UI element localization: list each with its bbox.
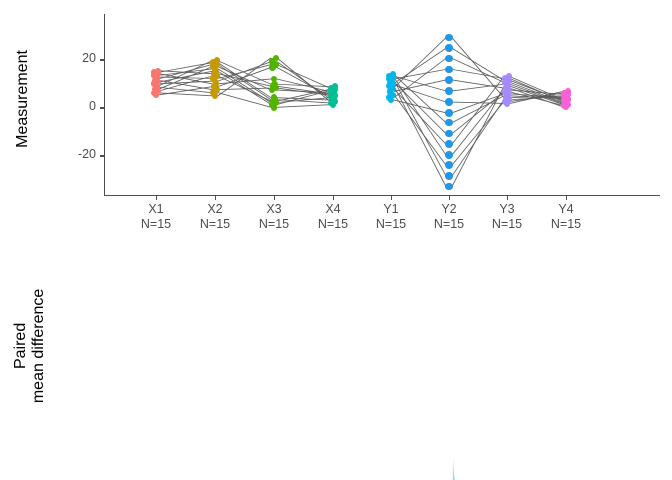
data-point: [445, 161, 453, 169]
top-panel-x-tick-label-x2: X2N=15: [185, 202, 245, 233]
data-point: [506, 73, 513, 80]
group-name: X2: [185, 202, 245, 217]
data-point: [445, 87, 453, 95]
group-n: N=15: [361, 217, 421, 232]
data-point: [214, 57, 221, 64]
group-n: N=15: [303, 217, 363, 232]
data-point: [445, 151, 453, 159]
data-point: [445, 76, 453, 84]
top-panel-x-tick-label-y2: Y2N=15: [419, 202, 479, 233]
data-point: [390, 71, 397, 78]
estimation-plot-figure: Measurement 200-20 X1N=15X2N=15X3N=15X4N…: [0, 0, 672, 480]
group-n: N=15: [126, 217, 186, 232]
bootstrap-distribution-curves: [0, 240, 672, 480]
data-point: [445, 172, 453, 180]
data-point: [445, 109, 453, 117]
data-point: [445, 183, 453, 191]
data-point: [271, 81, 278, 88]
data-point: [445, 66, 453, 74]
top-panel-x-tick-label-x4: X4N=15: [303, 202, 363, 233]
top-panel-x-tick-label-x1: X1N=15: [126, 202, 186, 233]
group-name: Y3: [477, 202, 537, 217]
top-panel-x-tick-label-y3: Y3N=15: [477, 202, 537, 233]
group-name: Y4: [536, 202, 596, 217]
group-n: N=15: [419, 217, 479, 232]
group-name: Y1: [361, 202, 421, 217]
group-name: X4: [303, 202, 363, 217]
group-name: X3: [244, 202, 304, 217]
mean-difference-panel: Pairedmean difference 100-10-20-30 X2min…: [0, 240, 672, 480]
group-n: N=15: [185, 217, 245, 232]
raw-data-panel: Measurement 200-20 X1N=15X2N=15X3N=15X4N…: [0, 0, 672, 240]
group-name: X1: [126, 202, 186, 217]
group-n: N=15: [477, 217, 537, 232]
top-panel-x-tick-label-x3: X3N=15: [244, 202, 304, 233]
group-n: N=15: [536, 217, 596, 232]
group-n: N=15: [244, 217, 304, 232]
data-point: [445, 140, 453, 148]
bootstrap-distribution-mirror: [449, 457, 453, 480]
top-panel-x-tick-label-y1: Y1N=15: [361, 202, 421, 233]
data-point: [445, 55, 453, 63]
data-point: [445, 98, 453, 106]
data-point: [565, 88, 572, 95]
data-point: [445, 44, 453, 52]
group-name: Y2: [419, 202, 479, 217]
data-point: [155, 68, 162, 75]
top-panel-x-tick-label-y4: Y4N=15: [536, 202, 596, 233]
bootstrap-distribution: [453, 457, 487, 480]
data-point: [332, 83, 339, 90]
